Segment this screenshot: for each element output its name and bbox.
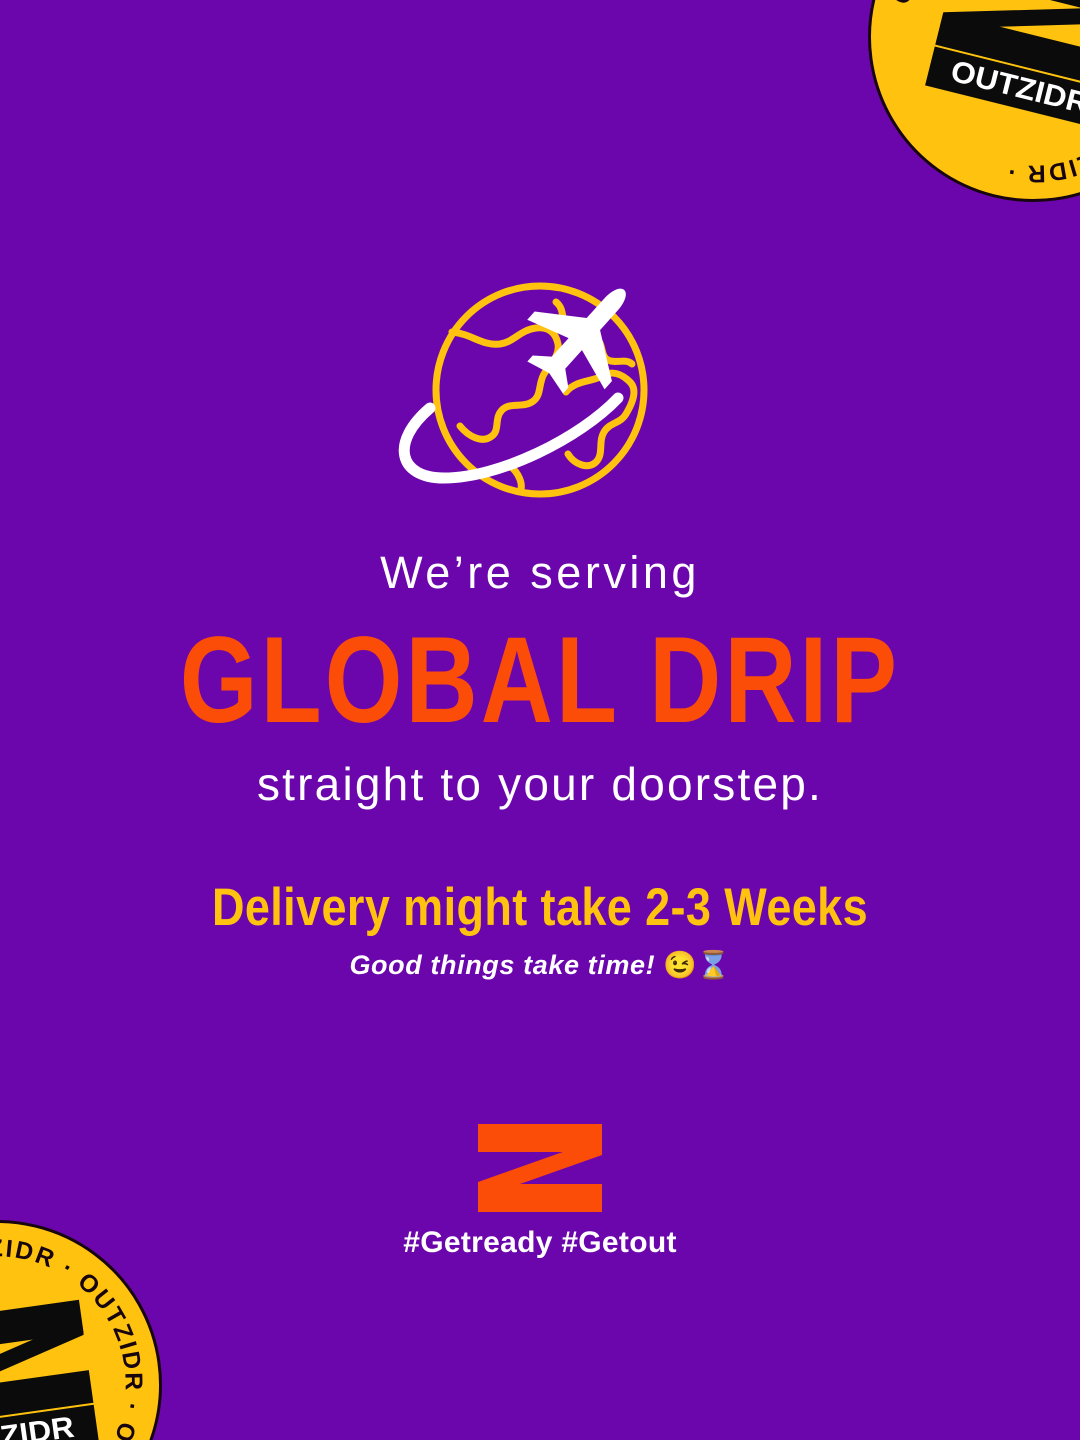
outzidr-stamp-top-right: OUTZIDR · OUTZIDR · OUTZIDR · OUTZIDR · … <box>833 0 1080 237</box>
globe-airplane-svg <box>360 272 720 512</box>
reassurance-line: Good things take time! 😉⌛ <box>0 951 1080 981</box>
footer-brand-block: #Getready #Getout <box>0 1124 1080 1259</box>
delivery-notice: Delivery might take 2-3 Weeks <box>0 878 1080 936</box>
outzidr-z-logo <box>478 1124 602 1212</box>
subline-text: straight to your doorstep. <box>0 759 1080 810</box>
stamp-wordmark-label: OUTZIDR <box>0 1413 76 1440</box>
reassurance-text: Good things take time! <box>349 950 655 980</box>
poster-canvas: OUTZIDR · OUTZIDR · OUTZIDR · OUTZIDR · … <box>0 0 1080 1440</box>
globe-airplane-icon <box>360 272 720 512</box>
brand-tagline: #Getready #Getout <box>0 1226 1080 1259</box>
z-bottom-bar <box>478 1184 602 1212</box>
wink-hourglass-emoji: 😉⌛ <box>663 950 730 980</box>
eyebrow-text: We’re serving <box>0 548 1080 598</box>
page-title: GLOBAL DRIP <box>0 612 1080 750</box>
message-block: We’re serving GLOBAL DRIP straight to yo… <box>0 548 1080 981</box>
globe-landmass-west-icon <box>452 328 558 440</box>
